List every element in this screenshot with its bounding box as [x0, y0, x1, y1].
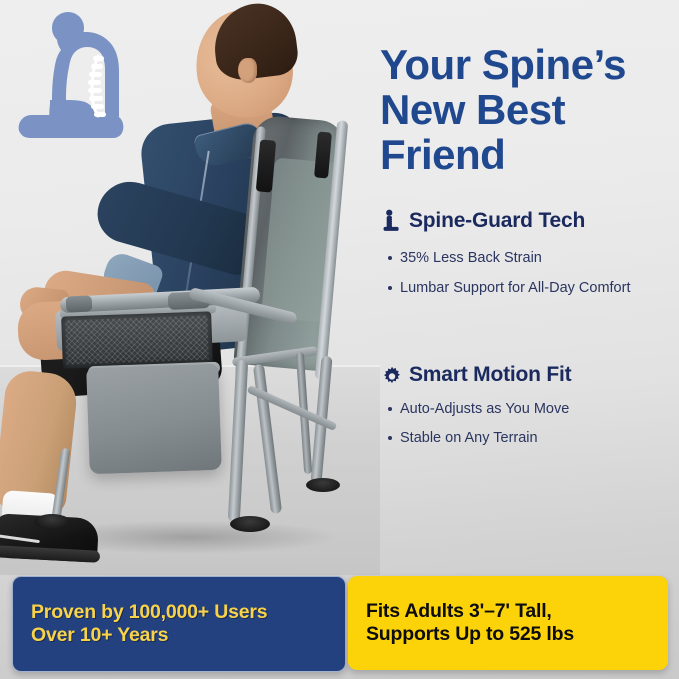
seated-person-spine-icon: [380, 208, 404, 234]
page-title: Your Spine’s New Best Friend: [380, 42, 670, 177]
chair-foot-front: [230, 516, 270, 532]
banner-text: Proven by 100,000+ Users Over 10+ Years: [13, 601, 285, 647]
feature-spine-guard-tech: Spine-Guard Tech 35% Less Back Strain Lu…: [380, 208, 679, 296]
feature-title: Spine-Guard Tech: [409, 209, 585, 233]
feature-bullet-list: 35% Less Back Strain Lumbar Support for …: [380, 250, 679, 296]
list-item: Stable on Any Terrain: [380, 430, 679, 446]
chair-shadow: [40, 520, 340, 554]
proven-banner: Proven by 100,000+ Users Over 10+ Years: [12, 576, 346, 672]
seated-person-spine-silhouette-icon: [10, 8, 150, 148]
banner-line-1: Fits Adults 3'–7' Tall,: [366, 600, 574, 623]
list-item: Auto-Adjusts as You Move: [380, 401, 679, 417]
feature-header: Spine-Guard Tech: [380, 208, 679, 234]
headline-line-3: Friend: [380, 132, 670, 177]
banner-line-2: Over 10+ Years: [31, 624, 267, 647]
headline-line-2: New Best: [380, 87, 670, 132]
chair-foot-left: [34, 514, 70, 529]
person-ear: [238, 58, 257, 83]
infographic-canvas: Your Spine’s New Best Friend: [0, 0, 679, 679]
feature-bullet-list: Auto-Adjusts as You Move Stable on Any T…: [380, 401, 679, 446]
gear-icon: [380, 362, 404, 388]
feature-smart-motion-fit: Smart Motion Fit Auto-Adjusts as You Mov…: [380, 362, 679, 446]
banner-text: Fits Adults 3'–7' Tall, Supports Up to 5…: [348, 600, 592, 646]
chair-foot-rear: [306, 478, 340, 492]
list-item: Lumbar Support for All-Day Comfort: [380, 280, 679, 296]
list-item: 35% Less Back Strain: [380, 250, 679, 266]
insulated-cooler-pouch: [86, 364, 222, 475]
mesh-texture: [65, 316, 208, 365]
marketing-copy-column: Your Spine’s New Best Friend: [380, 0, 679, 575]
fit-capacity-banner: Fits Adults 3'–7' Tall, Supports Up to 5…: [348, 576, 668, 670]
banner-line-1: Proven by 100,000+ Users: [31, 601, 267, 624]
armrest-grip-2: [66, 295, 93, 312]
product-photo: [0, 0, 380, 575]
feature-header: Smart Motion Fit: [380, 362, 679, 388]
banner-line-2: Supports Up to 525 lbs: [366, 623, 574, 646]
headline-line-1: Your Spine’s: [380, 42, 670, 87]
feature-title: Smart Motion Fit: [409, 363, 571, 387]
